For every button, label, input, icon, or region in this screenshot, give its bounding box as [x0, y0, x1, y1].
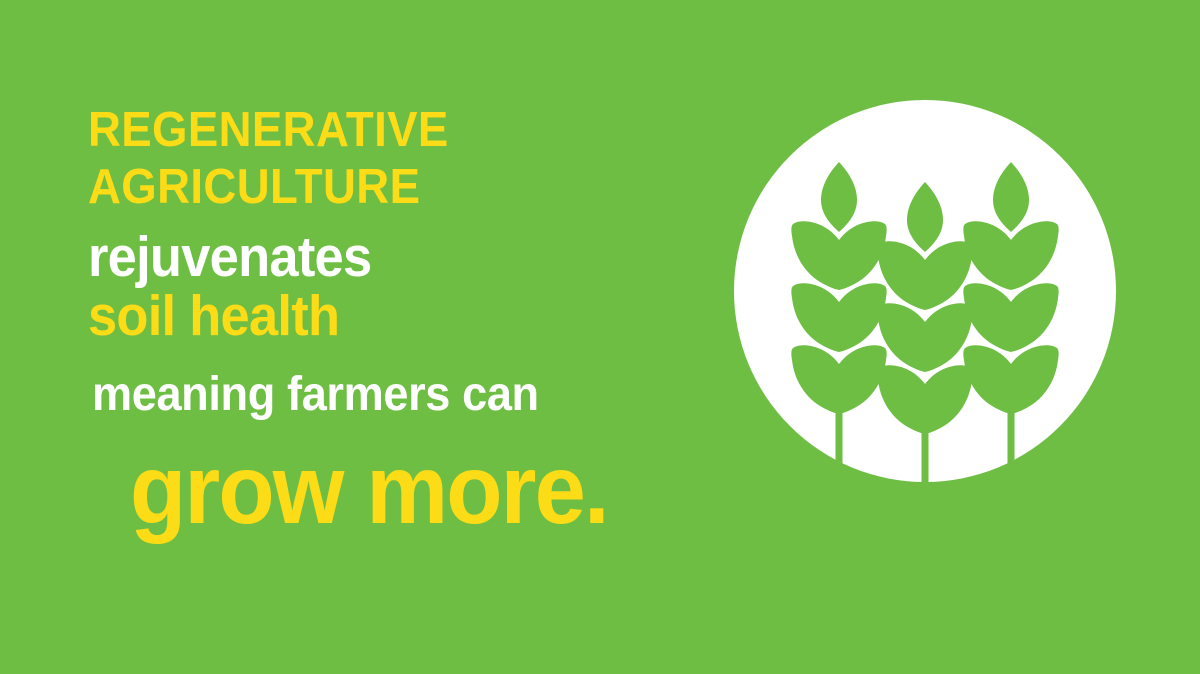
- headline-line-2: AGRICULTURE: [88, 163, 420, 212]
- headline-line-5: meaning farmers can: [92, 371, 539, 419]
- headline-line-3: rejuvenates: [88, 229, 371, 286]
- headline-line-4: soil health: [88, 288, 339, 345]
- headline-line-1: REGENERATIVE: [88, 106, 449, 155]
- wheat-stalks-icon: [734, 100, 1116, 482]
- headline-copy-block: REGENERATIVE AGRICULTURE rejuvenates soi…: [0, 0, 800, 674]
- poster-canvas: REGENERATIVE AGRICULTURE rejuvenates soi…: [0, 0, 1200, 674]
- headline-line-6: grow more.: [130, 440, 608, 538]
- wheat-badge: [734, 100, 1116, 482]
